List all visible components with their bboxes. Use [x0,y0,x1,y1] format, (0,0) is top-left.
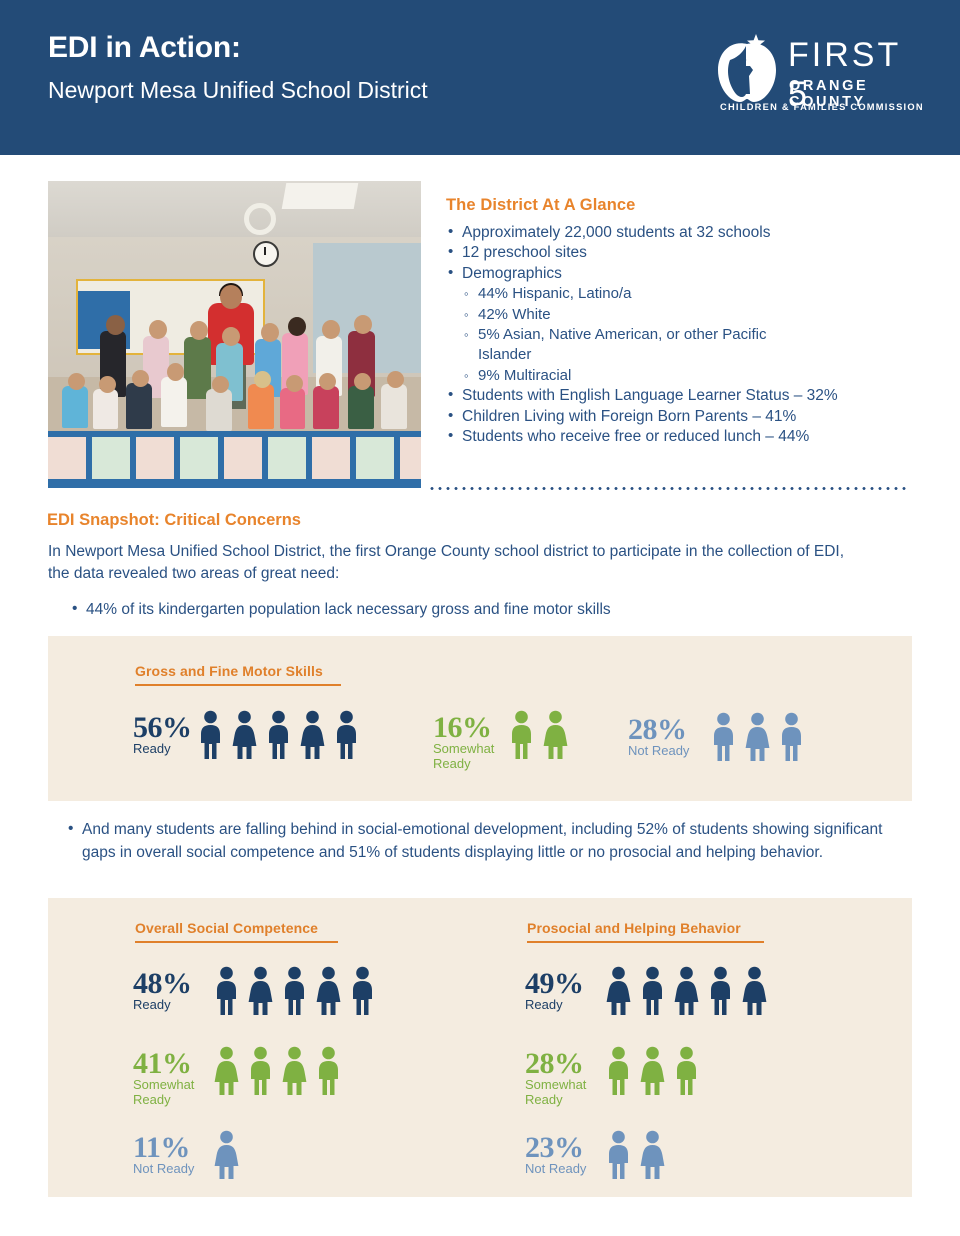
photo-child-head [261,323,279,342]
chart-caption: Ready [133,742,197,757]
chart-title-rule [135,941,338,943]
list-item: Approximately 22,000 students at 32 scho… [446,223,916,243]
chart-caption-line1: Somewhat [525,1078,605,1093]
pictogram-row-not-ready [710,712,805,762]
pictogram-row-ready [213,966,376,1016]
person-male-icon [639,966,666,1016]
photo-child-head [212,376,229,393]
chart-caption: Not Ready [628,744,710,759]
chart-group-label: 28% Somewhat Ready [525,1046,605,1107]
person-female-icon [744,712,771,762]
chart-value: 56% [133,714,197,742]
person-male-icon [349,966,376,1016]
chart-title-rule [527,941,764,943]
person-male-icon [315,1046,342,1096]
chart-value: 48% [133,970,213,998]
chart-group-somewhat-ready: 41% Somewhat Ready [133,1046,342,1107]
photo-child-head [286,375,303,392]
chart-group-ready: 49% Ready [525,966,768,1016]
first5-apple-child-icon [716,32,778,104]
photo-child [313,386,339,429]
person-female-icon [639,1130,666,1180]
person-male-icon [197,710,224,760]
photo-child-head [387,371,404,388]
person-male-icon [265,710,292,760]
photo-child-head [288,317,306,336]
logo-tagline: CHILDREN & FAMILIES COMMISSION [720,102,924,112]
photo-child-head [167,363,184,381]
person-female-icon [605,966,632,1016]
chart-caption-line1: Somewhat [133,1078,213,1093]
chart-caption-line2: Ready [433,757,508,772]
glance-list: Approximately 22,000 students at 32 scho… [446,223,916,447]
chart-group-label: 56% Ready [133,710,197,757]
photo-child [348,386,374,429]
infographic-page: EDI in Action: Newport Mesa Unified Scho… [0,0,960,1236]
photo-child-head [254,371,271,388]
pictogram-row-not-ready [605,1130,666,1180]
list-item: 44% Hispanic, Latino/a [446,284,916,304]
chart-group-label: 16% Somewhat Ready [433,710,508,771]
photo-child [126,383,152,429]
chart-group-somewhat-ready: 16% Somewhat Ready [433,710,569,771]
chart-group-label: 28% Not Ready [628,712,710,759]
chart-group-label: 23% Not Ready [525,1130,605,1177]
photo-ceiling [48,181,421,243]
chart-caption: Not Ready [133,1162,213,1177]
chart-panel-social: Overall Social Competence 48% Ready 41% … [48,898,912,1197]
page-subtitle: Newport Mesa Unified School District [48,78,428,103]
person-female-icon [542,710,569,760]
person-male-icon [710,712,737,762]
list-item: Demographics [446,264,916,284]
photo-rug-tiles [48,437,421,479]
pictogram-row-somewhat-ready [508,710,569,760]
chart-value: 23% [525,1134,605,1162]
page-title: EDI in Action: [48,33,241,63]
chart-group-label: 41% Somewhat Ready [133,1046,213,1107]
pictogram-row-not-ready [213,1130,240,1180]
photo-child [62,386,88,428]
person-male-icon [247,1046,274,1096]
photo-child-head [106,315,125,335]
chart-caption-line2: Ready [525,1093,605,1108]
snapshot-bullet-2: And many students are falling behind in … [68,819,902,864]
chart-panel-motor-skills: Gross and Fine Motor Skills 56% Ready 16… [48,636,912,801]
chart-value: 16% [433,714,508,742]
district-at-a-glance: The District At A Glance Approximately 2… [446,196,916,447]
person-female-icon [741,966,768,1016]
photo-child [206,389,232,431]
photo-child-head [190,321,208,340]
person-male-icon [213,966,240,1016]
list-item: Children Living with Foreign Born Parent… [446,407,916,427]
pictogram-row-somewhat-ready [605,1046,700,1096]
list-item: 12 preschool sites [446,243,916,263]
chart-group-label: 49% Ready [525,966,605,1013]
chart-caption-line2: Ready [133,1093,213,1108]
snapshot-heading: EDI Snapshot: Critical Concerns [47,511,301,530]
photo-child-head [99,376,116,393]
chart-title-social-competence: Overall Social Competence [135,920,338,936]
photo-teacher-head [220,285,242,309]
chart-value: 41% [133,1050,213,1078]
chart-value: 11% [133,1134,213,1162]
photo-child-head [149,320,167,339]
chart-title-rule [135,684,341,686]
chart-caption: Not Ready [525,1162,605,1177]
chart-group-somewhat-ready: 28% Somewhat Ready [525,1046,700,1107]
person-female-icon [299,710,326,760]
person-female-icon [213,1130,240,1180]
list-item-continuation: Islander [446,345,916,365]
person-female-icon [673,966,700,1016]
list-item: Students who receive free or reduced lun… [446,427,916,447]
chart-value: 28% [628,716,710,744]
photo-child-head [319,373,336,390]
person-female-icon [231,710,258,760]
chart-caption-line1: Somewhat [433,742,508,757]
photo-child-head [322,320,340,339]
person-female-icon [315,966,342,1016]
photo-child-head [132,370,149,387]
person-male-icon [281,966,308,1016]
person-male-icon [605,1046,632,1096]
person-male-icon [778,712,805,762]
pictogram-row-ready [605,966,768,1016]
photo-wreath [244,203,276,235]
chart-caption: Ready [525,998,605,1013]
pictogram-row-ready [197,710,360,760]
chart-group-label: 11% Not Ready [133,1130,213,1177]
chart-group-not-ready: 28% Not Ready [628,712,805,762]
photo-clock [253,241,279,267]
chart-group-label: 48% Ready [133,966,213,1013]
photo-child-head [354,373,371,390]
person-male-icon [673,1046,700,1096]
photo-child [93,389,118,429]
chart-title-motor: Gross and Fine Motor Skills [135,663,341,679]
first5-logo: FIRST 5 ORANGE COUNTY CHILDREN & FAMILIE… [716,30,916,130]
person-female-icon [213,1046,240,1096]
chart-value: 49% [525,970,605,998]
chart-value: 28% [525,1050,605,1078]
photo-child-head [222,327,240,346]
glance-heading: The District At A Glance [446,196,916,215]
chart-group-not-ready: 23% Not Ready [525,1130,666,1180]
photo-ceiling-light [282,183,359,209]
person-female-icon [281,1046,308,1096]
photo-child [248,384,274,429]
photo-child [280,388,305,429]
snapshot-bullet-1: 44% of its kindergarten population lack … [72,599,916,621]
photo-child-head [68,373,85,390]
list-item: 5% Asian, Native American, or other Paci… [446,325,916,345]
person-male-icon [508,710,535,760]
person-female-icon [639,1046,666,1096]
snapshot-intro: In Newport Mesa Unified School District,… [48,541,848,585]
classroom-photo [48,181,421,488]
pictogram-row-somewhat-ready [213,1046,342,1096]
person-male-icon [707,966,734,1016]
person-male-icon [605,1130,632,1180]
chart-group-ready: 48% Ready [133,966,376,1016]
page-header: EDI in Action: Newport Mesa Unified Scho… [0,0,960,155]
list-item: 9% Multiracial [446,366,916,386]
chart-caption: Ready [133,998,213,1013]
chart-title-prosocial: Prosocial and Helping Behavior [527,920,764,936]
list-item: Students with English Language Learner S… [446,386,916,406]
list-item: 42% White [446,305,916,325]
chart-group-not-ready: 11% Not Ready [133,1130,240,1180]
chart-group-ready: 56% Ready [133,710,360,760]
photo-child [161,377,187,427]
person-female-icon [247,966,274,1016]
person-male-icon [333,710,360,760]
photo-child-head [354,315,372,334]
dotted-divider [428,487,908,490]
photo-child [381,384,407,429]
